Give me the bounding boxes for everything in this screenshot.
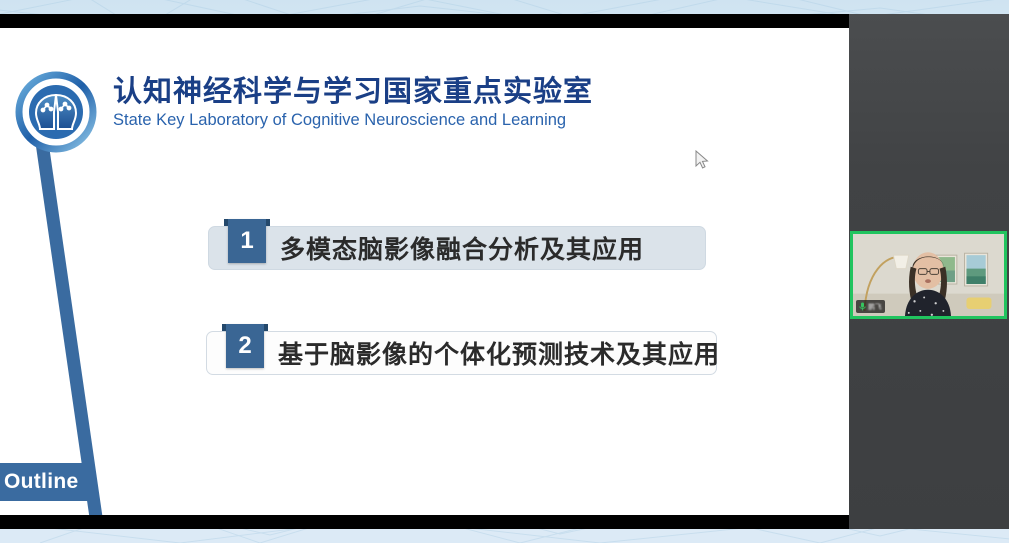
lab-title-cn: 认知神经科学与学习国家重点实验室 (113, 76, 593, 109)
outline-item-1[interactable]: 1 多模态脑影像融合分析及其应用 (208, 226, 706, 270)
microphone-icon (859, 302, 866, 311)
lab-title-en: State Key Laboratory of Cognitive Neuros… (113, 111, 593, 130)
participant-video-panel: 鹏飞 (849, 14, 1009, 529)
participant-name-chip: 鹏飞 (856, 300, 885, 313)
outline-item-2[interactable]: 2 基于脑影像的个体化预测技术及其应用 (206, 331, 717, 375)
magnifier-stem-graphic (36, 145, 106, 515)
shared-slide: 认知神经科学与学习国家重点实验室 State Key Laboratory of… (0, 28, 849, 515)
outline-item-1-label: 多模态脑影像融合分析及其应用 (280, 226, 644, 270)
meeting-window: 认知神经科学与学习国家重点实验室 State Key Laboratory of… (0, 0, 1009, 543)
lab-logo-icon (10, 68, 102, 160)
outline-item-2-label: 基于脑影像的个体化预测技术及其应用 (278, 331, 720, 375)
outline-item-1-number: 1 (228, 219, 266, 263)
arrow-cursor-icon (694, 150, 710, 170)
participant-video-tile[interactable]: 鹏飞 (850, 231, 1007, 319)
outline-section-banner: Outline (0, 463, 90, 501)
participant-name-label: 鹏飞 (868, 302, 882, 312)
lab-branding: 认知神经科学与学习国家重点实验室 State Key Laboratory of… (113, 76, 593, 130)
outline-item-2-number: 2 (226, 324, 264, 368)
outline-section-label: Outline (4, 470, 78, 494)
